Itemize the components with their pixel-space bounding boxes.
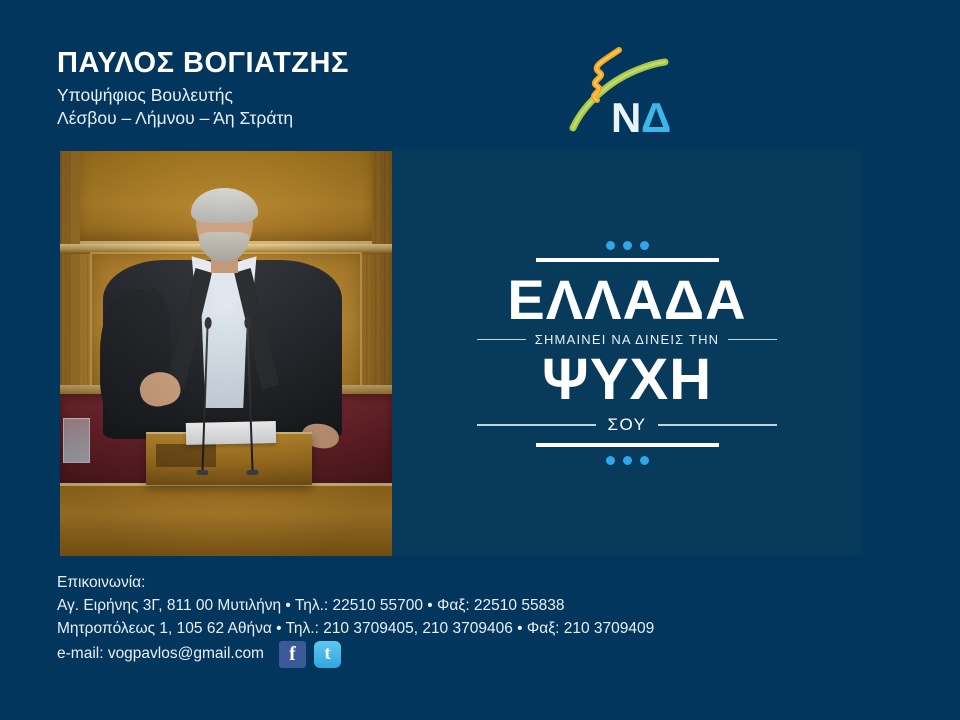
dot-icon [640,241,649,250]
contact-heading: Επικοινωνία: [57,572,857,595]
dot-icon [623,241,632,250]
contact-email-row: e-mail: vogpavlos@gmail.com f t [57,641,857,668]
dot-icon [606,456,615,465]
facebook-icon[interactable]: f [279,641,306,668]
contact-email[interactable]: e-mail: vogpavlos@gmail.com [57,643,264,666]
nd-party-logo: Ν Δ [565,44,685,140]
dots-bottom [477,456,777,465]
dot-icon [606,241,615,250]
candidate-region: Λέσβου – Λήμνου – Άη Στράτη [57,107,537,130]
slogan-line-1: ΕΛΛΑΔΑ [477,272,777,328]
photo-content [60,151,392,556]
social-links: f t [279,641,341,668]
candidate-name: ΠΑΥΛΟΣ ΒΟΓΙΑΤΖΗΣ [57,48,537,79]
rule-left [477,339,526,341]
contact-address-mytilene: Αγ. Ειρήνης 3Γ, 811 00 Μυτιλήνη • Τηλ.: … [57,595,857,618]
candidate-podium-photo [60,151,392,556]
contact-address-athens: Μητροπόλεως 1, 105 62 Αθήνα • Τηλ.: 210 … [57,618,857,641]
slogan-line-3: ΨΥΧΗ [477,351,777,409]
twitter-icon[interactable]: t [314,641,341,668]
slogan-line-4-row: ΣΟΥ [477,415,777,435]
slogan-content: ΕΛΛΑΔΑ ΣΗΜΑΙΝΕΙ ΝΑ ΔΙΝΕΙΣ ΤΗΝ ΨΥΧΗ ΣΟΥ [477,241,777,465]
header: ΠΑΥΛΟΣ ΒΟΓΙΑΤΖΗΣ Υποψήφιος Βουλευτής Λέσ… [57,48,537,131]
contact-block: Επικοινωνία: Αγ. Ειρήνης 3Γ, 811 00 Μυτι… [57,572,857,668]
dot-icon [640,456,649,465]
slogan-line-2: ΣΗΜΑΙΝΕΙ ΝΑ ΔΙΝΕΙΣ ΤΗΝ [535,332,720,347]
svg-text:Δ: Δ [641,94,671,140]
rule-bottom [536,443,719,447]
dots-top [477,241,777,250]
slogan-panel: ΕΛΛΑΔΑ ΣΗΜΑΙΝΕΙ ΝΑ ΔΙΝΕΙΣ ΤΗΝ ΨΥΧΗ ΣΟΥ [392,151,862,555]
photo-vignette [60,151,392,556]
rule-top [536,258,719,262]
svg-text:Ν: Ν [611,94,641,140]
slogan-line-4: ΣΟΥ [607,415,646,435]
rule-left [477,424,596,426]
dot-icon [623,456,632,465]
rule-right [658,424,777,426]
campaign-card: ΠΑΥΛΟΣ ΒΟΓΙΑΤΖΗΣ Υποψήφιος Βουλευτής Λέσ… [0,0,960,720]
rule-right [728,339,777,341]
candidate-role: Υποψήφιος Βουλευτής [57,84,537,107]
slogan-line-2-row: ΣΗΜΑΙΝΕΙ ΝΑ ΔΙΝΕΙΣ ΤΗΝ [477,332,777,347]
